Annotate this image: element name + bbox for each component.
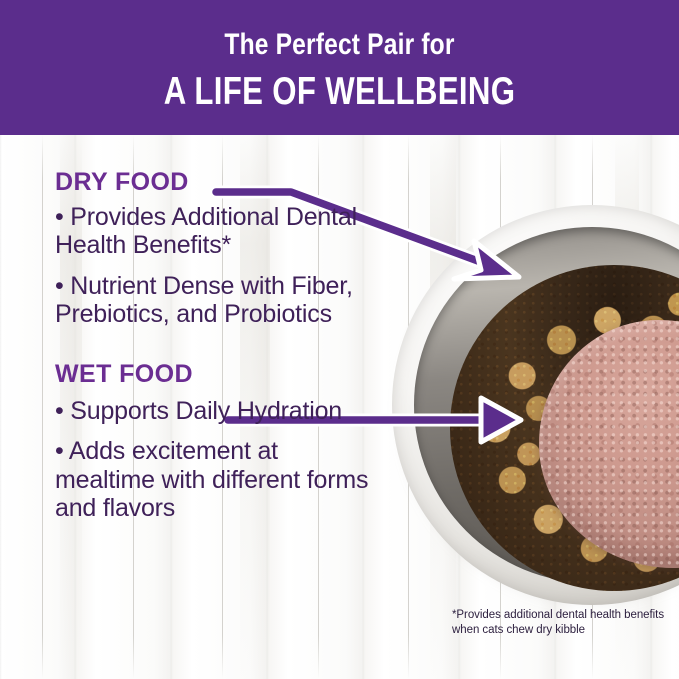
footnote-text: *Provides additional dental health benef…: [452, 608, 667, 638]
bowl-outer-rim: [392, 205, 679, 605]
header-title-line1: The Perfect Pair for: [61, 28, 618, 62]
wet-food-block: WET FOOD • Supports Daily Hydration • Ad…: [55, 362, 375, 522]
plank-seam: [42, 135, 43, 679]
bowl-contents: [450, 265, 679, 591]
dry-food-block: DRY FOOD • Provides Additional Dental He…: [55, 170, 375, 328]
wet-food-heading: WET FOOD: [55, 362, 375, 387]
header-title-line2: A LIFE OF WELLBEING: [68, 70, 611, 114]
benefits-copy-column: DRY FOOD • Provides Additional Dental He…: [55, 170, 375, 534]
dry-food-bullet-2: • Nutrient Dense with Fiber, Prebiotics,…: [55, 272, 375, 329]
bowl-inner-rim: [414, 227, 679, 583]
wet-food-bullet-1: • Supports Daily Hydration: [55, 397, 375, 425]
header-banner: The Perfect Pair for A LIFE OF WELLBEING: [0, 0, 679, 135]
wet-food-bullet-2: • Adds excitement at mealtime with diffe…: [55, 437, 375, 522]
infographic-root: The Perfect Pair for A LIFE OF WELLBEING…: [0, 0, 679, 679]
dry-food-bullet-1: • Provides Additional Dental Health Bene…: [55, 203, 375, 260]
food-bowl-photo: [392, 205, 679, 605]
dry-food-heading: DRY FOOD: [55, 170, 375, 195]
